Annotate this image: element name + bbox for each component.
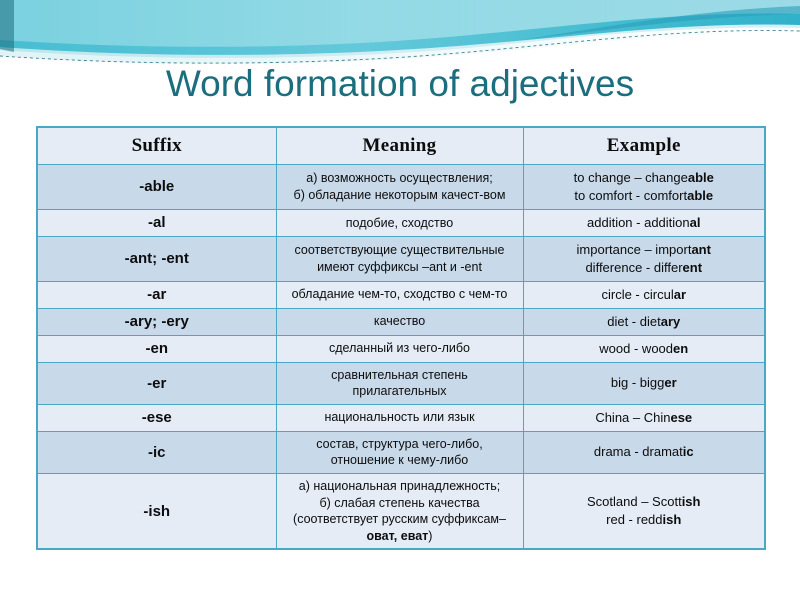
table-row: -alподобие, сходствоaddition - additiona… <box>37 209 765 236</box>
cell-suffix: -ary; -ery <box>37 308 276 335</box>
column-header-example: Example <box>523 127 765 165</box>
example-suffix-bold: ic <box>683 444 694 459</box>
cell-example: big - bigger <box>523 362 765 404</box>
cell-example: to change – changeableto comfort - comfo… <box>523 165 765 210</box>
cell-suffix: -en <box>37 335 276 362</box>
meaning-line: а) возможность осуществления; <box>283 170 517 187</box>
example-suffix-bold: ish <box>682 494 701 509</box>
example-line: diet - dietary <box>530 313 759 331</box>
example-suffix-bold: ese <box>670 410 692 425</box>
example-line: drama - dramatic <box>530 443 759 461</box>
example-line: wood - wooden <box>530 340 759 358</box>
cell-suffix: -al <box>37 209 276 236</box>
cell-suffix: -ant; -ent <box>37 236 276 281</box>
example-suffix-bold: ent <box>683 260 703 275</box>
example-line: red - reddish <box>530 511 759 529</box>
example-suffix-bold: able <box>688 170 714 185</box>
cell-meaning: обладание чем-то, сходство с чем-то <box>276 281 523 308</box>
suffix-table-container: Suffix Meaning Example -ableа) возможнос… <box>36 126 764 550</box>
cell-meaning: качество <box>276 308 523 335</box>
cell-meaning: а) национальная принадлежность;б) слабая… <box>276 473 523 549</box>
table-row: -ishа) национальная принадлежность;б) сл… <box>37 473 765 549</box>
example-suffix-bold: al <box>690 215 701 230</box>
table-row: -icсостав, структура чего-либо,отношение… <box>37 431 765 473</box>
cell-example: circle - circular <box>523 281 765 308</box>
cell-suffix: -ese <box>37 404 276 431</box>
cell-suffix: -ish <box>37 473 276 549</box>
meaning-line: сравнительная степень <box>283 367 517 384</box>
column-header-meaning: Meaning <box>276 127 523 165</box>
meaning-line: б) обладание некоторым качест-вом <box>283 187 517 204</box>
table-body: -ableа) возможность осуществления;б) обл… <box>37 165 765 550</box>
meaning-line: (соответствует русским суффиксам– <box>283 511 517 528</box>
cell-example: importance – importantdifference - diffe… <box>523 236 765 281</box>
example-line: circle - circular <box>530 286 759 304</box>
example-suffix-bold: ant <box>691 242 711 257</box>
cell-suffix: -able <box>37 165 276 210</box>
cell-suffix: -ar <box>37 281 276 308</box>
cell-meaning: соответствующие существительныеимеют суф… <box>276 236 523 281</box>
cell-meaning: состав, структура чего-либо,отношение к … <box>276 431 523 473</box>
table-row: -ableа) возможность осуществления;б) обл… <box>37 165 765 210</box>
meaning-line: сделанный из чего-либо <box>283 340 517 357</box>
cell-example: addition - additional <box>523 209 765 236</box>
example-suffix-bold: ish <box>663 512 682 527</box>
meaning-line: имеют суффиксы –ant и -ent <box>283 259 517 276</box>
cell-meaning: сделанный из чего-либо <box>276 335 523 362</box>
page-title: Word formation of adjectives <box>0 63 800 105</box>
meaning-line: б) слабая степень качества <box>283 495 517 512</box>
suffix-table: Suffix Meaning Example -ableа) возможнос… <box>36 126 766 550</box>
table-row: -ant; -entсоответствующие существительны… <box>37 236 765 281</box>
example-line: importance – important <box>530 241 759 259</box>
meaning-line: соответствующие существительные <box>283 242 517 259</box>
example-line: addition - additional <box>530 214 759 232</box>
meaning-line: прилагательных <box>283 383 517 400</box>
table-row: -arобладание чем-то, сходство с чем-тоci… <box>37 281 765 308</box>
header-decoration <box>0 0 800 72</box>
example-line: to change – changeable <box>530 169 759 187</box>
table-row: -erсравнительная степеньприлагательныхbi… <box>37 362 765 404</box>
table-row: -enсделанный из чего-либоwood - wooden <box>37 335 765 362</box>
cell-example: diet - dietary <box>523 308 765 335</box>
example-line: China – Chinese <box>530 409 759 427</box>
column-header-suffix: Suffix <box>37 127 276 165</box>
example-suffix-bold: er <box>664 375 676 390</box>
meaning-line: состав, структура чего-либо, <box>283 436 517 453</box>
meaning-line: а) национальная принадлежность; <box>283 478 517 495</box>
example-line: difference - different <box>530 259 759 277</box>
example-suffix-bold: en <box>673 341 688 356</box>
cell-meaning: подобие, сходство <box>276 209 523 236</box>
example-line: to comfort - comfortable <box>530 187 759 205</box>
meaning-line: обладание чем-то, сходство с чем-то <box>283 286 517 303</box>
cell-suffix: -er <box>37 362 276 404</box>
meaning-line: подобие, сходство <box>283 215 517 232</box>
cell-meaning: национальность или язык <box>276 404 523 431</box>
meaning-line: качество <box>283 313 517 330</box>
meaning-line: национальность или язык <box>283 409 517 426</box>
table-row: -eseнациональность или языкChina – Chine… <box>37 404 765 431</box>
meaning-line: отношение к чему-либо <box>283 452 517 469</box>
meaning-bold-part: оват, еват <box>367 529 429 543</box>
cell-example: China – Chinese <box>523 404 765 431</box>
cell-meaning: сравнительная степеньприлагательных <box>276 362 523 404</box>
example-line: big - bigger <box>530 374 759 392</box>
example-suffix-bold: able <box>687 188 713 203</box>
cell-suffix: -ic <box>37 431 276 473</box>
meaning-line: оват, еват) <box>283 528 517 545</box>
table-header-row: Suffix Meaning Example <box>37 127 765 165</box>
cell-example: drama - dramatic <box>523 431 765 473</box>
table-row: -ary; -eryкачествоdiet - dietary <box>37 308 765 335</box>
example-suffix-bold: ar <box>674 287 686 302</box>
cell-example: Scotland – Scottishred - reddish <box>523 473 765 549</box>
cell-meaning: а) возможность осуществления;б) обладани… <box>276 165 523 210</box>
cell-example: wood - wooden <box>523 335 765 362</box>
example-suffix-bold: ary <box>661 314 681 329</box>
example-line: Scotland – Scottish <box>530 493 759 511</box>
